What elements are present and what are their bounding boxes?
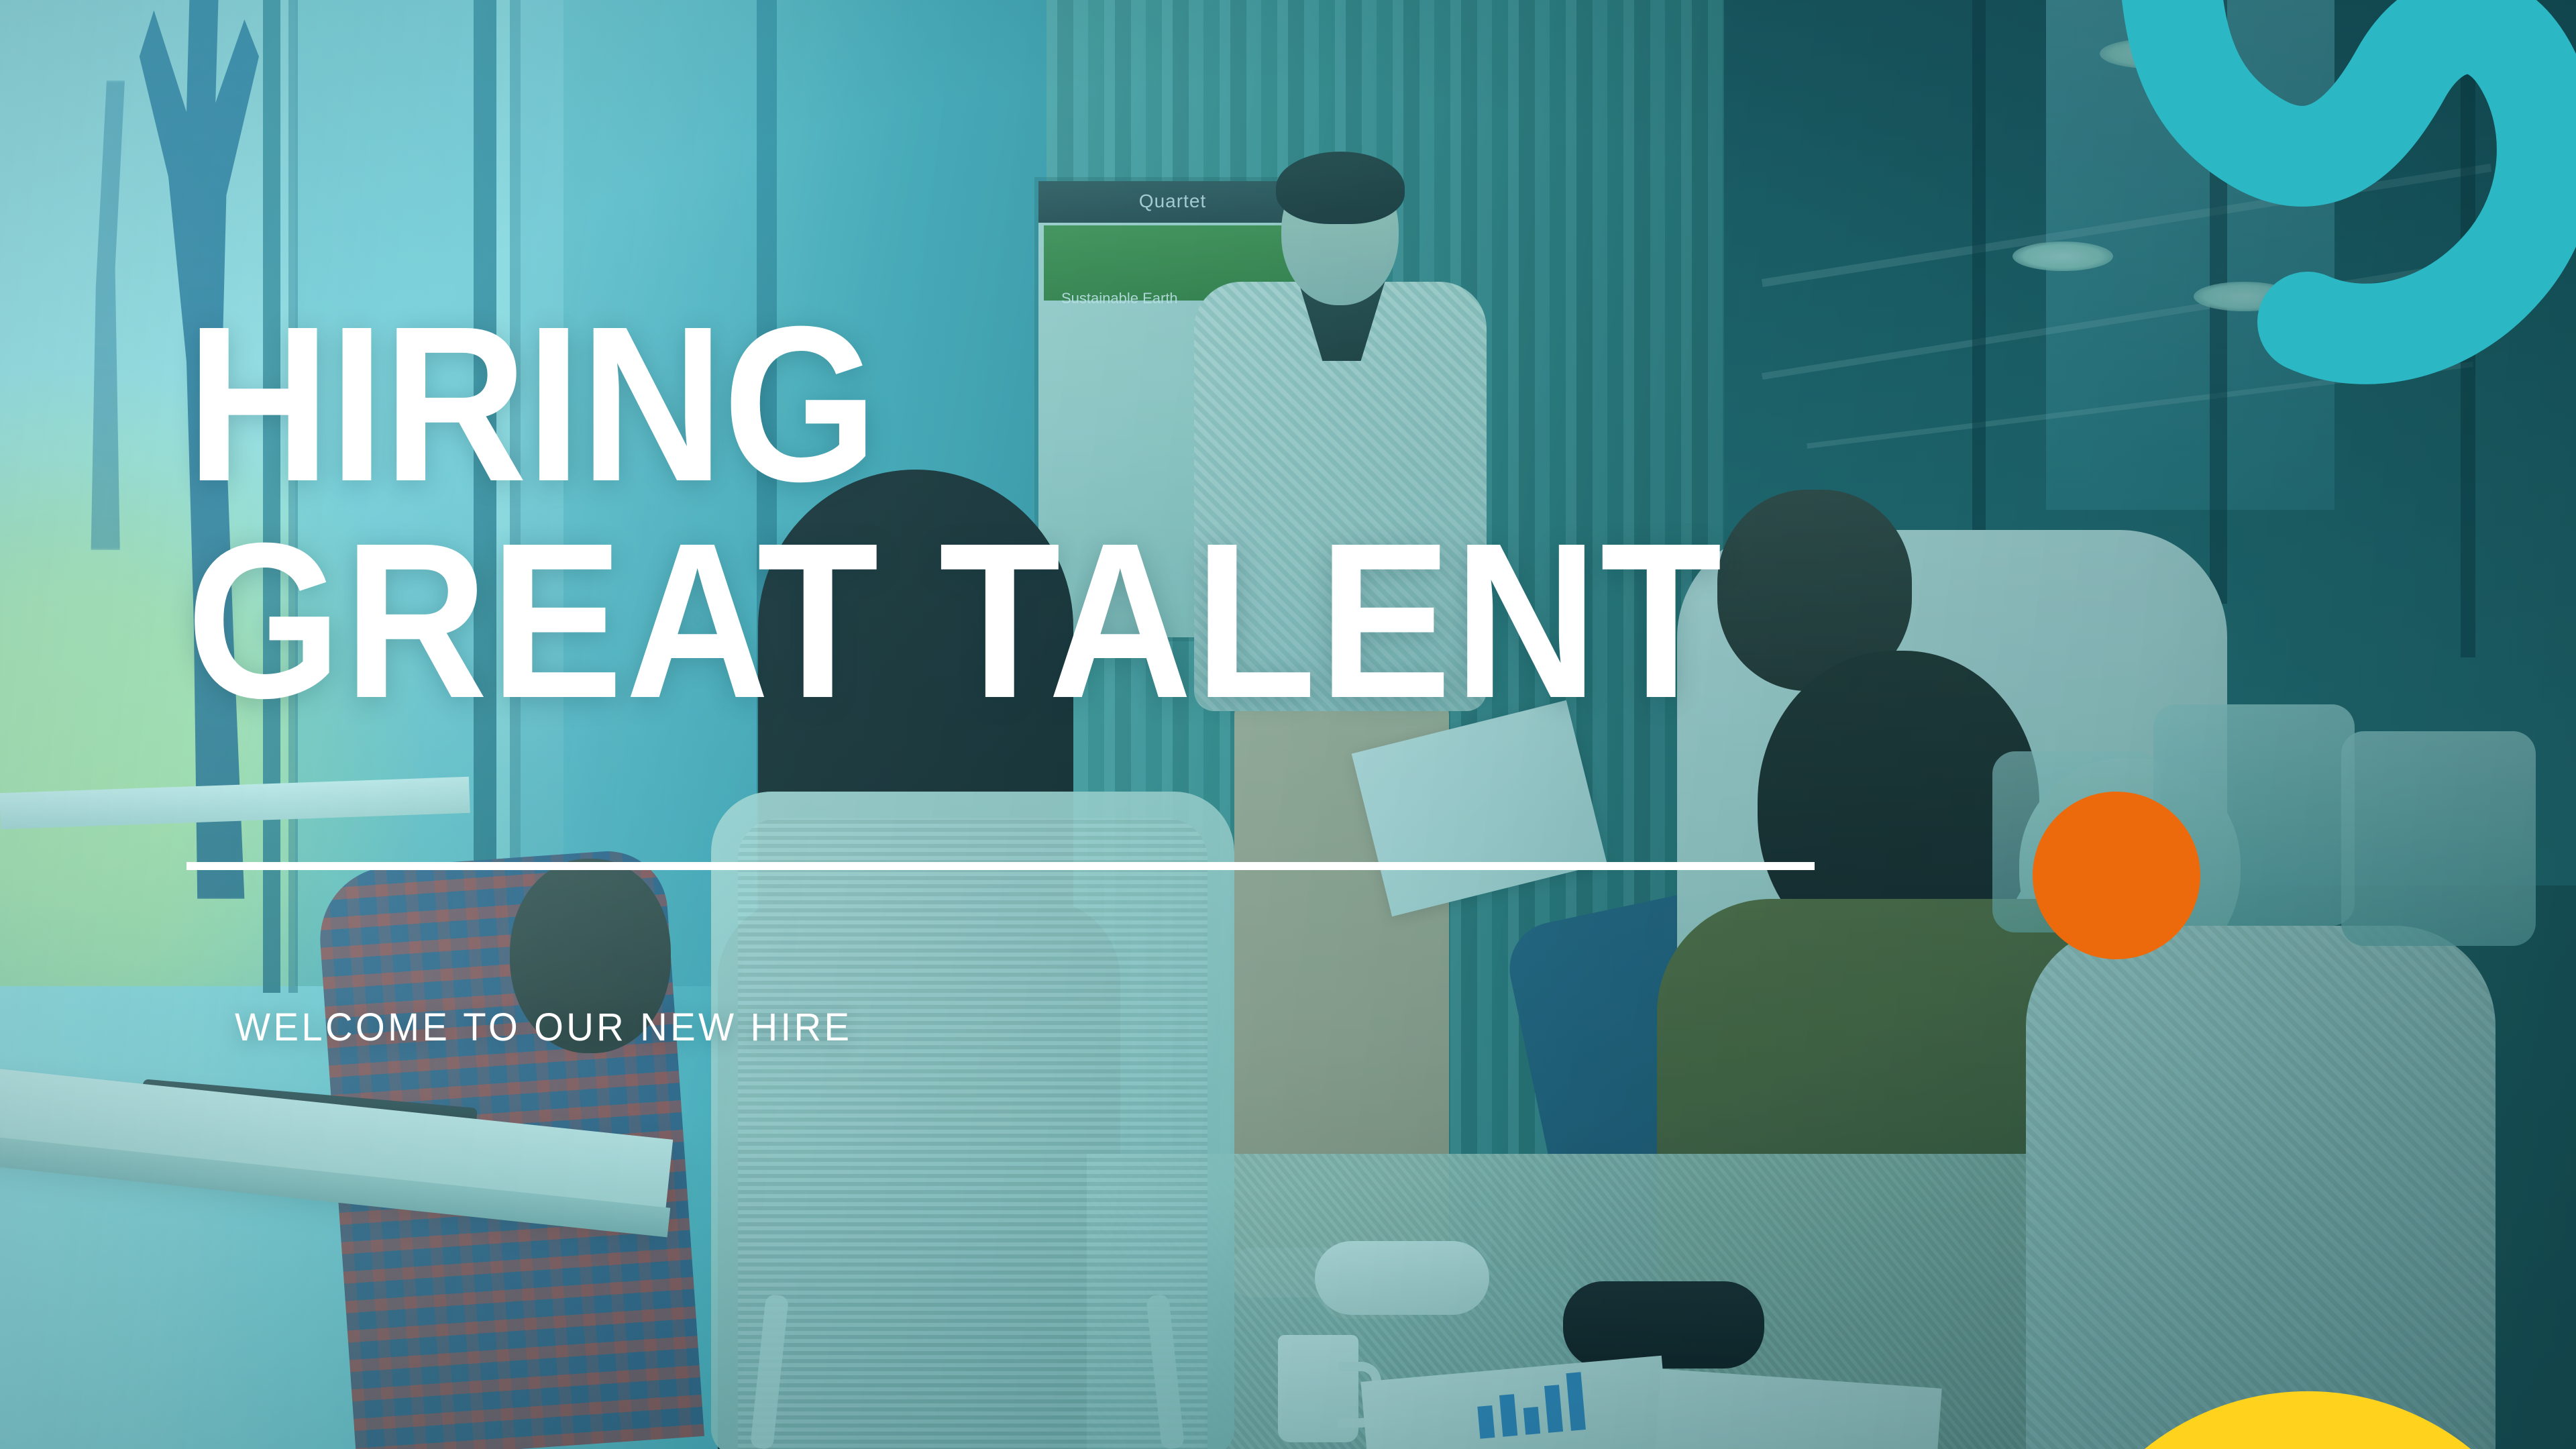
subtitle: WELCOME TO OUR NEW HIRE [235, 1005, 852, 1050]
copy-block: HIRING GREAT TALENT [186, 295, 1998, 729]
teal-wave-squiggle-icon [2086, 0, 2576, 416]
hiring-poster: Quartet Sustainable Earth [0, 0, 2576, 1449]
headline-line-2: GREAT TALENT [186, 496, 1724, 744]
page-title: HIRING GREAT TALENT [186, 295, 1817, 729]
yellow-arc-icon [2046, 1046, 2576, 1449]
headline-line-1: HIRING [186, 280, 877, 527]
orange-circle-icon [2033, 792, 2200, 959]
divider-rule [186, 862, 1815, 870]
